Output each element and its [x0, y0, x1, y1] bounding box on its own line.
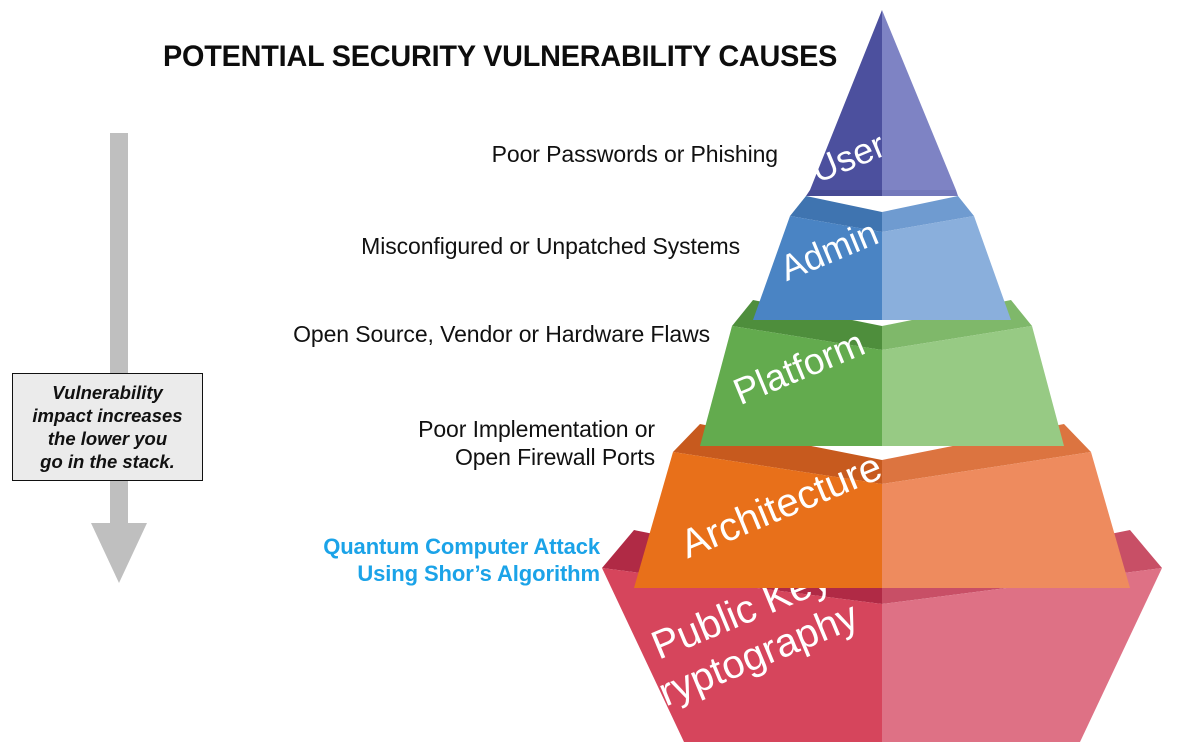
callout-box: Vulnerability impact increases the lower… [12, 373, 203, 481]
page-title: POTENTIAL SECURITY VULNERABILITY CAUSES [163, 40, 837, 74]
cause-label-cryptography-highlighted: Quantum Computer Attack Using Shor’s Alg… [323, 533, 600, 587]
cause-label-user: Poor Passwords or Phishing [492, 140, 778, 168]
cause-label-architecture: Poor Implementation or Open Firewall Por… [418, 415, 655, 471]
pyramid-tier-user[interactable]: User [805, 10, 958, 196]
tier-user-base-right [882, 190, 958, 196]
diagram-canvas: Public Key Cryptography Architecture Pla… [0, 0, 1192, 746]
pyramid-tier-admin[interactable]: Admin [753, 196, 1011, 320]
callout-text: Vulnerability impact increases the lower… [32, 381, 182, 473]
tier-admin-right-face [882, 216, 1011, 320]
tier-user-right-face [882, 10, 956, 190]
pyramid-tier-platform[interactable]: Platform [700, 300, 1064, 446]
cause-label-admin: Misconfigured or Unpatched Systems [361, 232, 740, 260]
cause-label-platform: Open Source, Vendor or Hardware Flaws [293, 320, 710, 348]
tier-user-base-left [806, 190, 882, 196]
downward-arrow-icon [89, 133, 149, 583]
pyramid-tier-architecture[interactable]: Architecture [634, 424, 1130, 588]
